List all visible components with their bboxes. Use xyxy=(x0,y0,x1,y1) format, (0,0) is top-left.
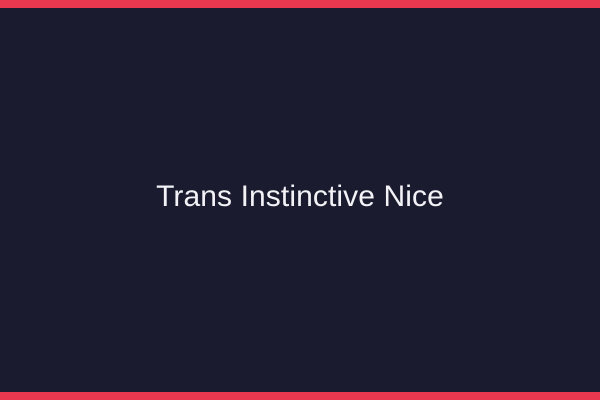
bottom-accent-bar xyxy=(0,392,600,400)
banner-content-area: Trans Instinctive Nice xyxy=(0,8,600,392)
placeholder-banner: Trans Instinctive Nice xyxy=(0,0,600,400)
banner-caption: Trans Instinctive Nice xyxy=(140,180,460,215)
top-accent-bar xyxy=(0,0,600,8)
